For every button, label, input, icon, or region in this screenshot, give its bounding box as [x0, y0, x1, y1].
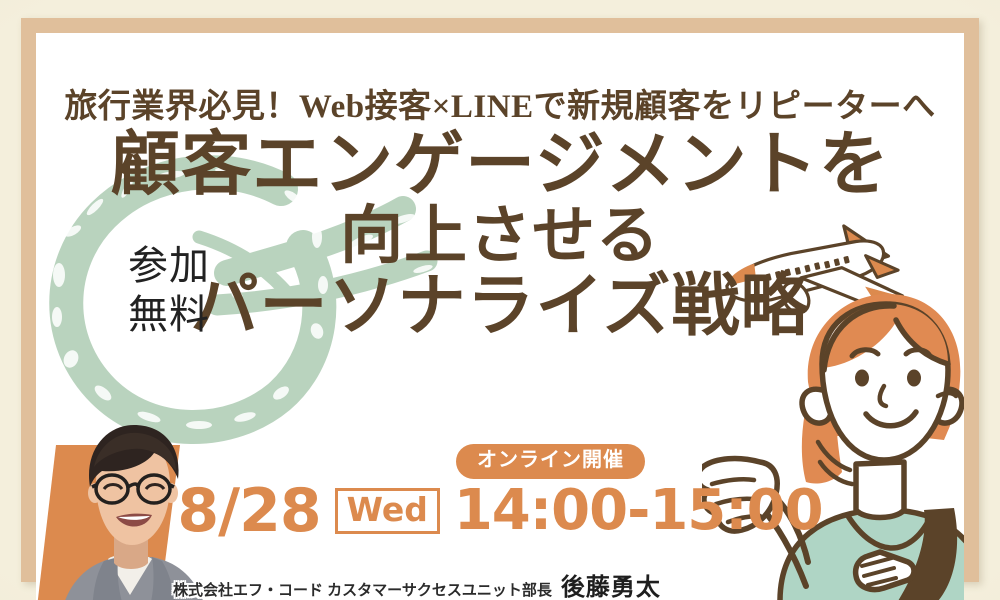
- subheadline: 旅行業界必見！Web接客×LINEで新規顧客をリピーターへ: [36, 79, 964, 127]
- speaker-name: 後藤勇太: [561, 567, 661, 600]
- speaker-organization: 株式会社エフ・コード カスタマーサクセスユニット部長: [173, 579, 552, 600]
- event-time: 14:00-15:00: [454, 483, 823, 539]
- status-badge-online: オンライン開催: [456, 444, 645, 479]
- headline-line-1: 顧客エンゲージメントを: [36, 129, 964, 203]
- webinar-banner: 旅行業界必見！Web接客×LINEで新規顧客をリピーターへ 顧客エンゲージメント…: [0, 0, 1000, 600]
- free-badge-line-1: 参加: [96, 242, 242, 291]
- speaker-caption: 株式会社エフ・コード カスタマーサクセスユニット部長 後藤勇太: [173, 567, 661, 600]
- event-day-of-week: Wed: [335, 488, 440, 534]
- banner-card: 旅行業界必見！Web接客×LINEで新規顧客をリピーターへ 顧客エンゲージメント…: [36, 33, 964, 600]
- free-badge-line-2: 無料: [96, 291, 242, 340]
- free-participation-badge: 参加 無料: [96, 242, 242, 340]
